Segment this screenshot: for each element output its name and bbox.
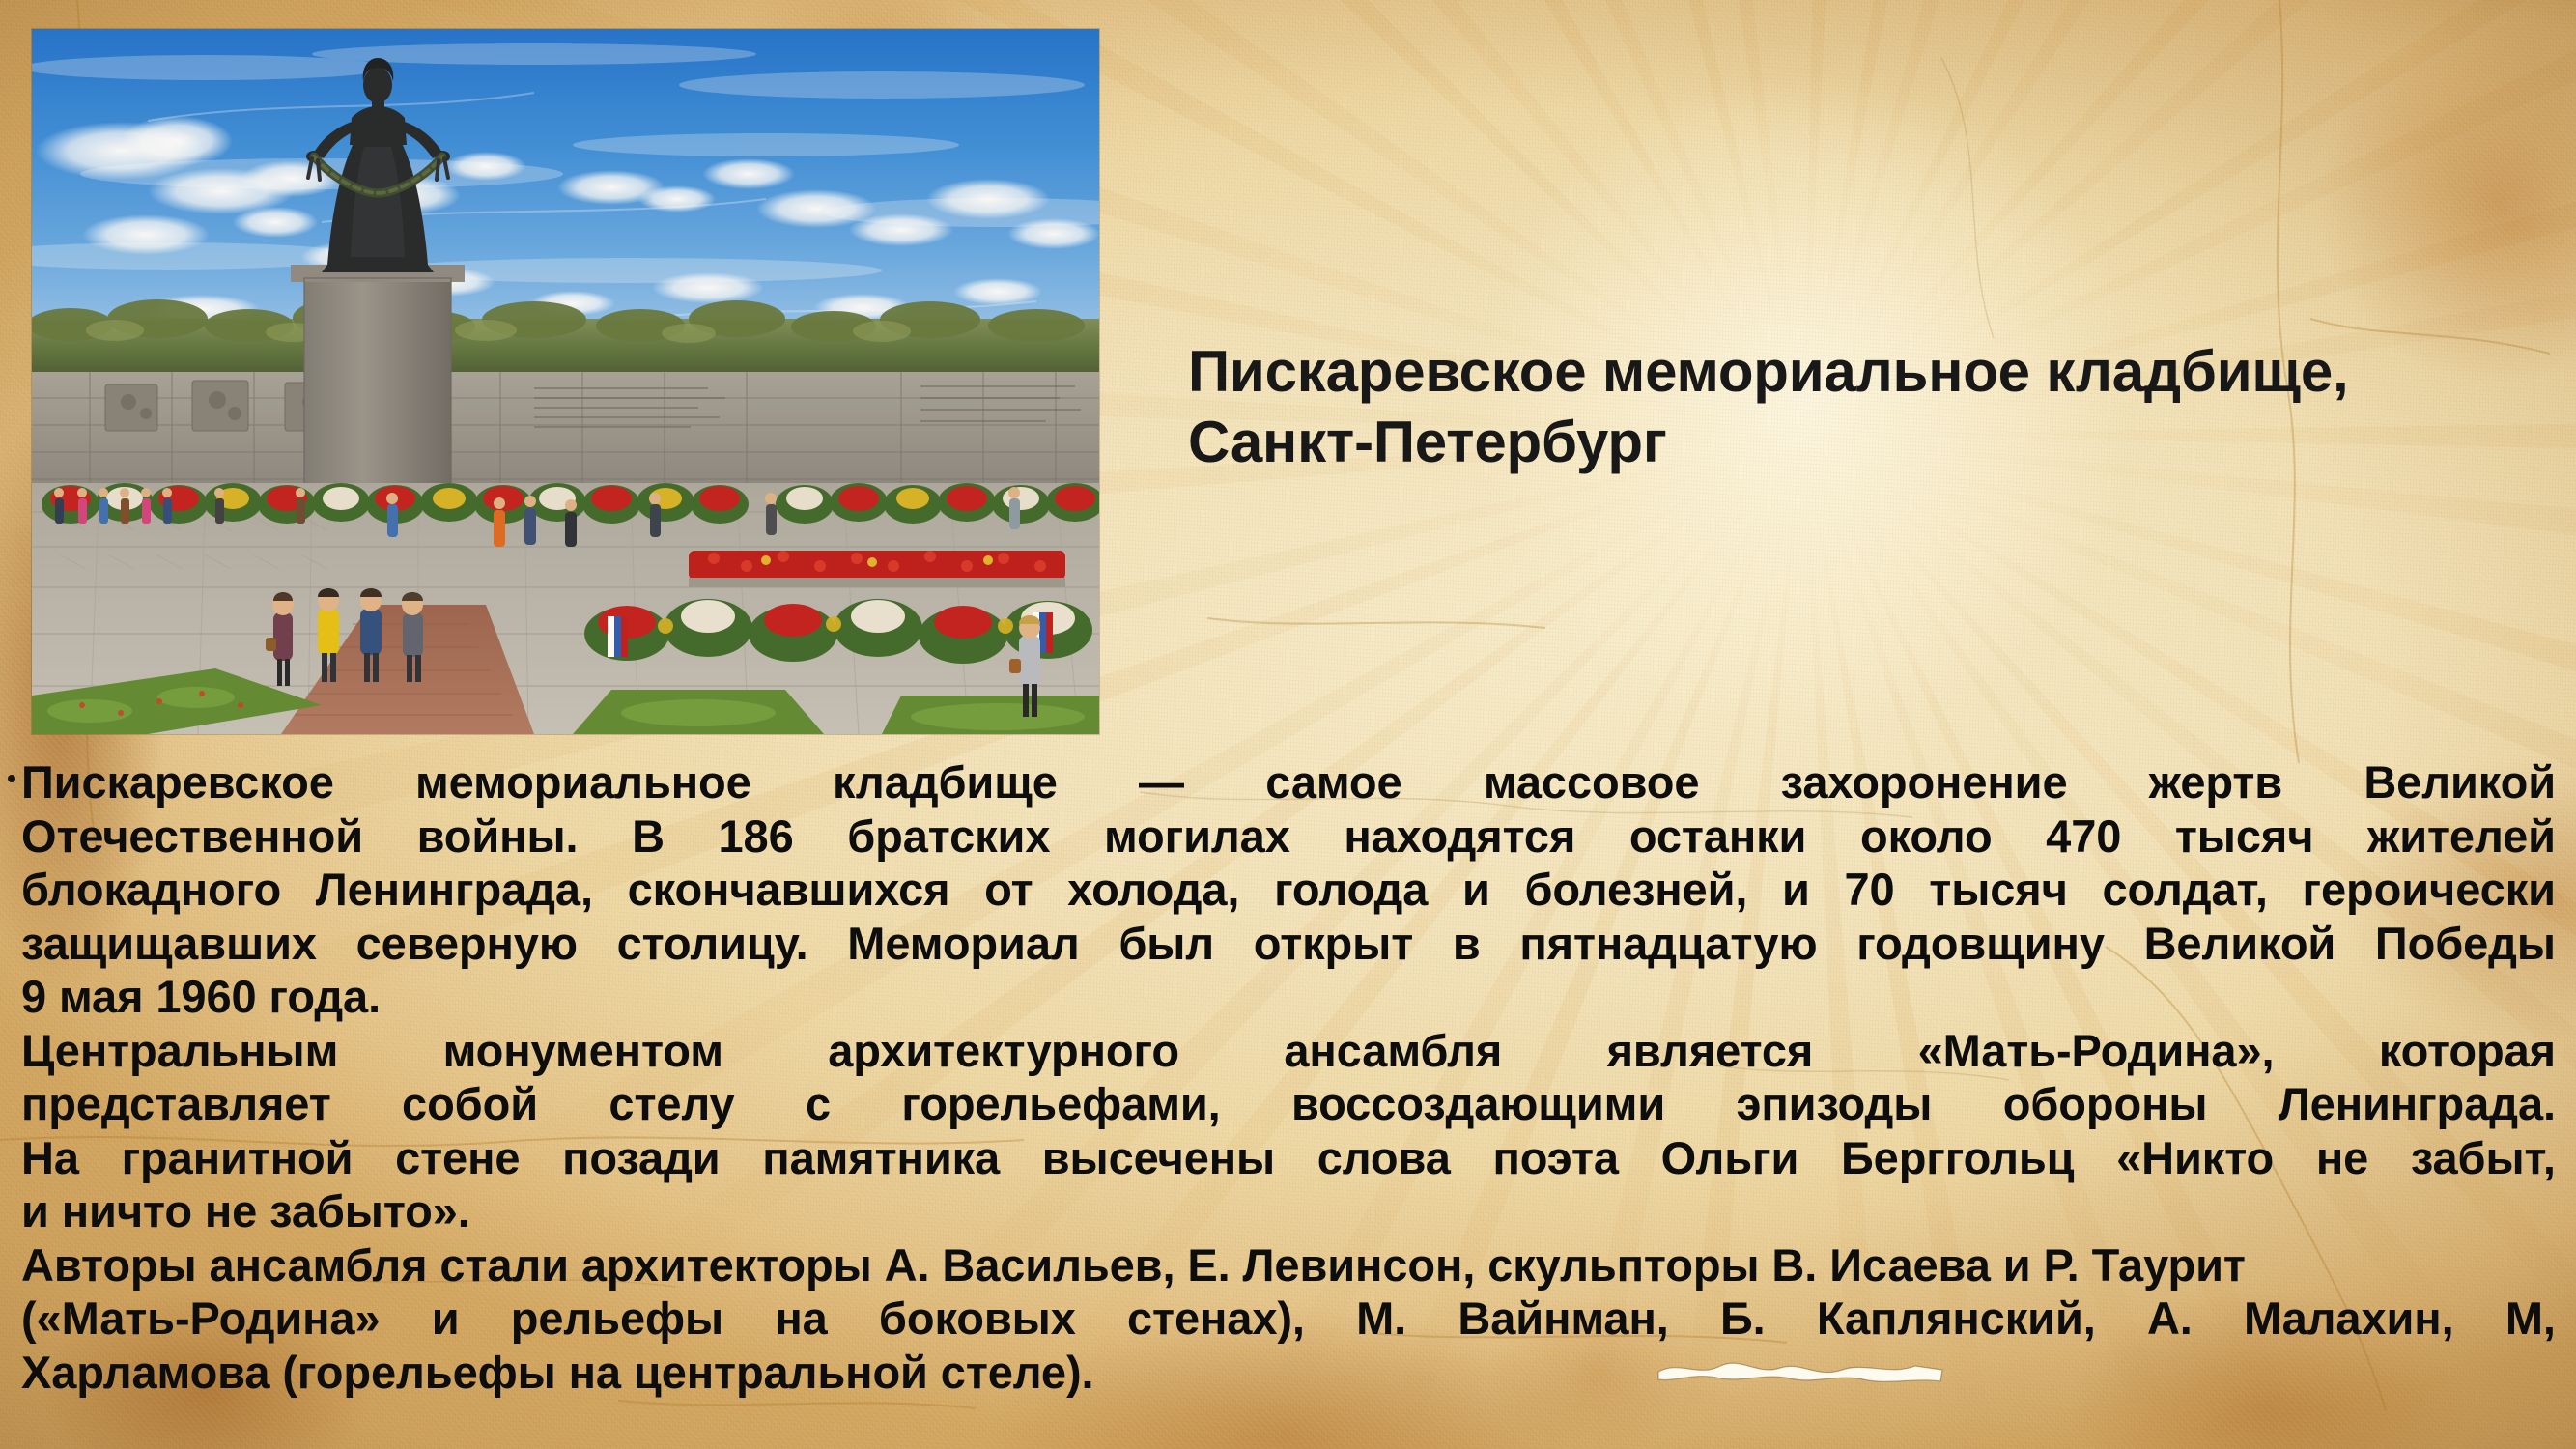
text-word: Отечественной [21,810,363,864]
text-word: («Мать-Родина» [21,1292,380,1346]
text-line: Харламова (горельефы на центральной стел… [21,1346,2556,1400]
text-word: На [21,1131,79,1185]
slide-body-text: Пискаревскоемемориальноекладбище—самоема… [21,755,2556,1399]
text-word: Берггольц [1841,1131,2074,1185]
text-word: массовое [1484,755,1700,810]
text-word: архитектурного [828,1024,1179,1078]
text-word: стенах), [1127,1292,1305,1346]
text-word: на [775,1292,827,1346]
text-word: 70 [1845,863,1895,917]
text-word: с [806,1077,831,1131]
text-word: северную [356,917,578,971]
text-word: Великой [2364,755,2556,810]
text-word: защищавших [21,917,317,971]
text-word: боковых [879,1292,1076,1346]
text-word: памятника [762,1131,1000,1185]
text-word: стелу [609,1077,734,1131]
text-word: поэта [1492,1131,1618,1185]
text-word: останки [1629,810,1807,864]
text-word: тысяч [1929,863,2068,917]
text-word: Малахин, [2244,1292,2454,1346]
text-word: болезней, [1524,863,1747,917]
text-word: монументом [443,1024,723,1078]
text-word: был [1118,917,1214,971]
text-word: высечены [1042,1131,1275,1185]
text-line: и ничто не забыто». [21,1184,2556,1238]
text-word: блокадного [21,863,281,917]
text-word: Ленинграда, [316,863,593,917]
text-word: эпизоды [1737,1077,1933,1131]
text-word: голода [1274,863,1428,917]
text-line: Авторы ансамбля стали архитекторы А. Вас… [21,1238,2556,1293]
text-word: обороны [2003,1077,2208,1131]
text-line: Центральныммонументомархитектурногоансам… [21,1024,2556,1078]
presentation-slide: Пискаревское мемориальное кладбище, Санк… [0,0,2576,1449]
text-word: жертв [2149,755,2282,810]
text-word: годовщину [1856,917,2105,971]
slide-title-line-1: Пискаревское мемориальное кладбище, [1188,336,2531,407]
text-word: от [984,863,1033,917]
text-word: гранитной [122,1131,354,1185]
text-word: Мемориал [847,917,1079,971]
text-word: тысяч [2175,810,2314,864]
text-word: героически [2303,863,2556,917]
slide-title: Пискаревское мемориальное кладбище, Санк… [1188,336,2531,477]
text-line: Отечественнойвойны.В186братскихмогилахна… [21,810,2556,864]
text-word: М. [1356,1292,1406,1346]
memorial-photo [32,29,1099,734]
text-word: забыт, [2411,1131,2556,1185]
text-word: слова [1317,1131,1451,1185]
text-word: братских [847,810,1050,864]
text-line: блокадногоЛенинграда,скончавшихсяотхолод… [21,863,2556,917]
text-line: Награнитнойстенепозадипамятникавысеченыс… [21,1131,2556,1185]
text-word: Победы [2375,917,2556,971]
paragraph-2: Центральныммонументомархитектурногоансам… [21,1024,2556,1238]
text-word: стене [395,1131,520,1185]
text-word: 470 [2046,810,2121,864]
text-line: Пискаревскоемемориальноекладбище—самоема… [21,755,2556,810]
text-word: в [1453,917,1481,971]
text-word: Б. [1720,1292,1766,1346]
text-word: — [1139,755,1184,810]
text-word: которая [2379,1024,2556,1078]
text-word: и [1462,863,1490,917]
text-word: самое [1265,755,1401,810]
text-word: находятся [1344,810,1575,864]
paragraph-3: Авторы ансамбля стали архитекторы А. Вас… [21,1238,2556,1400]
text-word: захоронение [1781,755,2068,810]
text-word: А. [2147,1292,2193,1346]
text-word: могилах [1104,810,1290,864]
text-word: и [1782,863,1810,917]
text-word: М, [2505,1292,2556,1346]
text-word: Каплянский, [1817,1292,2096,1346]
text-word: ансамбля [1284,1024,1502,1078]
text-word: столицу. [617,917,808,971]
text-word: открыт [1254,917,1413,971]
text-word: Ольги [1661,1131,1799,1185]
text-word: Ленинграда. [2279,1077,2556,1131]
text-line: представляетсобойстелусгорельефами,воссо… [21,1077,2556,1131]
text-word: войны. [417,810,579,864]
text-word: около [1860,810,1993,864]
text-word: позади [562,1131,721,1185]
text-word: мемориальное [415,755,751,810]
text-word: скончавшихся [628,863,950,917]
text-word: В [632,810,665,864]
text-line: 9 мая 1960 года. [21,970,2556,1024]
text-word: Пискаревское [21,755,334,810]
slide-title-line-2: Санкт-Петербург [1188,407,2531,477]
text-line: защищавшихсевернуюстолицу.Мемориалбылотк… [21,917,2556,971]
text-word: не [2316,1131,2368,1185]
text-word: и [432,1292,460,1346]
text-word: Великой [2144,917,2336,971]
text-word: 186 [719,810,794,864]
bullet-point-icon [8,775,15,782]
paragraph-1: Пискаревскоемемориальноекладбище—самоема… [21,755,2556,1024]
text-word: солдат, [2102,863,2267,917]
text-word: кладбище [833,755,1058,810]
text-word: «Никто [2116,1131,2274,1185]
text-word: воссоздающими [1291,1077,1665,1131]
text-word: «Мать-Родина», [1918,1024,2275,1078]
text-word: холода, [1067,863,1239,917]
text-word: рельефы [511,1292,723,1346]
text-word: является [1607,1024,1814,1078]
text-word: горельефами, [901,1077,1220,1131]
text-word: жителей [2367,810,2556,864]
text-word: Вайнман, [1458,1292,1668,1346]
text-word: представляет [21,1077,331,1131]
text-word: пятнадцатую [1519,917,1817,971]
text-word: Центральным [21,1024,338,1078]
text-line: («Мать-Родина»ирельефынабоковыхстенах),М… [21,1292,2556,1346]
text-word: собой [402,1077,538,1131]
